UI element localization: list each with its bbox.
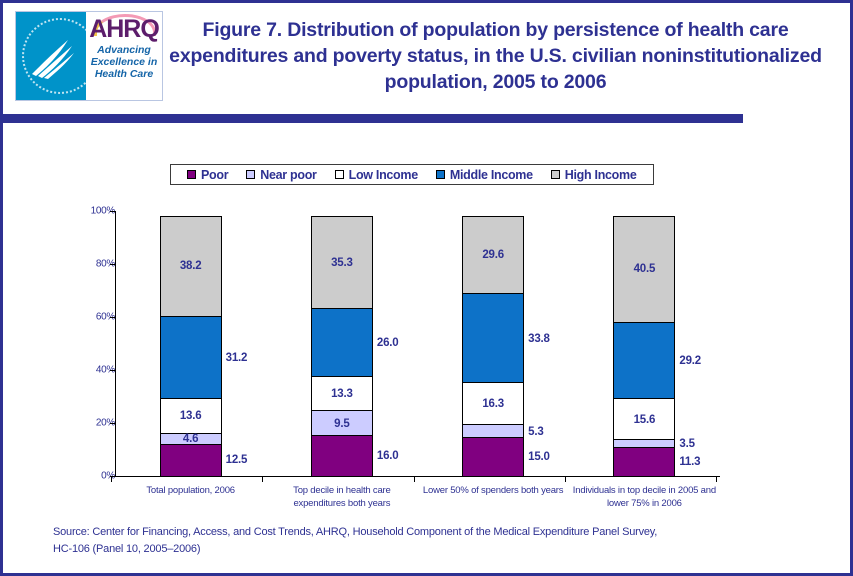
bar-segment-value: 16.3 bbox=[482, 398, 504, 410]
bar-group: 40.529.215.63.511.3 bbox=[569, 211, 720, 476]
bar-segment-low-income[interactable]: 16.3 bbox=[462, 382, 524, 425]
legend-label: Middle Income bbox=[450, 168, 533, 182]
bar-segment-middle-income[interactable]: 26.0 bbox=[311, 308, 373, 377]
legend-item-poor[interactable]: Poor bbox=[187, 168, 228, 182]
y-axis-tick-label: 20% bbox=[75, 418, 115, 429]
legend-swatch-icon bbox=[551, 170, 560, 179]
bar-segment-value: 13.6 bbox=[180, 410, 202, 422]
y-axis-tick-mark bbox=[110, 317, 115, 318]
y-axis-tick-label: 100% bbox=[75, 206, 115, 217]
y-axis-tick-mark bbox=[110, 423, 115, 424]
ahrq-tagline-line3: Health Care bbox=[86, 68, 162, 80]
bar-segment-middle-income[interactable]: 33.8 bbox=[462, 293, 524, 383]
x-axis-category-label: Lower 50% of spenders both years bbox=[418, 484, 569, 510]
bar-segment-poor[interactable]: 12.5 bbox=[160, 444, 222, 477]
ahrq-tagline-line1: Advancing bbox=[86, 44, 162, 56]
bar-segment-value: 29.2 bbox=[679, 355, 701, 367]
source-note: Source: Center for Financing, Access, an… bbox=[53, 524, 813, 558]
ahrq-wordmark: AHRQ Advancing Excellence in Health Care bbox=[86, 12, 162, 100]
y-axis-tick-label: 0% bbox=[75, 471, 115, 482]
y-axis: 0%20%40%60%80%100% bbox=[73, 211, 115, 476]
bar-segment-value: 31.2 bbox=[226, 352, 248, 364]
bar-stack[interactable]: 35.326.013.39.516.0 bbox=[311, 211, 373, 476]
bar-segment-high-income[interactable]: 29.6 bbox=[462, 216, 524, 294]
bar-segment-value: 13.3 bbox=[331, 388, 353, 400]
bar-segment-value: 40.5 bbox=[634, 263, 656, 275]
legend-label: Near poor bbox=[260, 168, 316, 182]
bar-segment-low-income[interactable]: 15.6 bbox=[613, 398, 675, 439]
y-axis-tick-mark bbox=[110, 370, 115, 371]
figure-header: AHRQ Advancing Excellence in Health Care… bbox=[3, 3, 850, 115]
y-axis-tick-mark bbox=[110, 211, 115, 212]
legend-label: Low Income bbox=[349, 168, 418, 182]
y-axis-tick-mark bbox=[110, 264, 115, 265]
source-line-2: HC-106 (Panel 10, 2005–2006) bbox=[53, 541, 813, 558]
bar-segment-high-income[interactable]: 38.2 bbox=[160, 216, 222, 317]
bar-segment-near-poor[interactable]: 5.3 bbox=[462, 424, 524, 438]
bar-segment-poor[interactable]: 11.3 bbox=[613, 447, 675, 477]
chart-plot-area: 0%20%40%60%80%100% 38.231.213.64.612.535… bbox=[73, 211, 733, 476]
bar-segment-value: 12.5 bbox=[226, 454, 248, 466]
bar-stack[interactable]: 38.231.213.64.612.5 bbox=[160, 211, 222, 476]
hhs-eagle-icon bbox=[28, 34, 76, 80]
bar-segment-high-income[interactable]: 40.5 bbox=[613, 216, 675, 323]
x-axis-tick-mark bbox=[262, 476, 263, 482]
bar-segment-middle-income[interactable]: 31.2 bbox=[160, 316, 222, 399]
legend-item-near-poor[interactable]: Near poor bbox=[246, 168, 316, 182]
bar-segment-value: 38.2 bbox=[180, 260, 202, 272]
x-axis-category-label: Individuals in top decile in 2005 and lo… bbox=[569, 484, 720, 510]
x-axis-category-labels: Total population, 2006Top decile in heal… bbox=[115, 484, 720, 510]
stacked-bars: 38.231.213.64.612.535.326.013.39.516.029… bbox=[115, 211, 720, 476]
bar-segment-value: 9.5 bbox=[334, 418, 349, 430]
y-axis-tick-label: 80% bbox=[75, 259, 115, 270]
x-axis-tick-mark bbox=[414, 476, 415, 482]
ahrq-tagline: Advancing Excellence in Health Care bbox=[86, 44, 162, 80]
bar-segment-high-income[interactable]: 35.3 bbox=[311, 216, 373, 310]
legend-swatch-icon bbox=[436, 170, 445, 179]
legend-swatch-icon bbox=[187, 170, 196, 179]
ahrq-hhs-logo: AHRQ Advancing Excellence in Health Care bbox=[15, 11, 163, 101]
bar-segment-value: 11.3 bbox=[679, 456, 700, 468]
bar-segment-low-income[interactable]: 13.3 bbox=[311, 376, 373, 411]
legend-label: High Income bbox=[565, 168, 637, 182]
source-line-1: Source: Center for Financing, Access, an… bbox=[53, 524, 813, 541]
legend-swatch-icon bbox=[335, 170, 344, 179]
bar-stack[interactable]: 40.529.215.63.511.3 bbox=[613, 211, 675, 476]
ahrq-acronym: AHRQ bbox=[86, 17, 162, 42]
bar-segment-value: 33.8 bbox=[528, 333, 550, 345]
x-axis-tick-mark bbox=[111, 476, 112, 482]
x-axis-category-label: Top decile in health care expenditures b… bbox=[266, 484, 417, 510]
legend-swatch-icon bbox=[246, 170, 255, 179]
bar-segment-middle-income[interactable]: 29.2 bbox=[613, 322, 675, 399]
bar-segment-poor[interactable]: 16.0 bbox=[311, 435, 373, 477]
x-axis-tick-mark bbox=[716, 476, 717, 482]
hhs-seal-icon bbox=[16, 12, 86, 100]
header-divider bbox=[3, 114, 743, 123]
bar-segment-value: 29.6 bbox=[482, 249, 504, 261]
x-axis-category-label: Total population, 2006 bbox=[115, 484, 266, 510]
bar-group: 35.326.013.39.516.0 bbox=[266, 211, 417, 476]
bar-stack[interactable]: 29.633.816.35.315.0 bbox=[462, 211, 524, 476]
bar-segment-near-poor[interactable]: 9.5 bbox=[311, 410, 373, 435]
legend-item-low-income[interactable]: Low Income bbox=[335, 168, 418, 182]
y-axis-tick-label: 60% bbox=[75, 312, 115, 323]
bar-segment-low-income[interactable]: 13.6 bbox=[160, 398, 222, 434]
bar-segment-value: 26.0 bbox=[377, 337, 399, 349]
bar-segment-poor[interactable]: 15.0 bbox=[462, 437, 524, 477]
chart-legend: PoorNear poorLow IncomeMiddle IncomeHigh… bbox=[170, 164, 654, 185]
figure-page: AHRQ Advancing Excellence in Health Care… bbox=[0, 0, 853, 576]
bar-segment-value: 3.5 bbox=[679, 438, 694, 450]
bar-group: 29.633.816.35.315.0 bbox=[418, 211, 569, 476]
bar-segment-value: 16.0 bbox=[377, 450, 399, 462]
bar-segment-value: 15.0 bbox=[528, 451, 550, 463]
legend-item-middle-income[interactable]: Middle Income bbox=[436, 168, 533, 182]
x-axis-tick-mark bbox=[565, 476, 566, 482]
bar-segment-value: 15.6 bbox=[634, 414, 656, 426]
legend-item-high-income[interactable]: High Income bbox=[551, 168, 637, 182]
legend-label: Poor bbox=[201, 168, 228, 182]
ahrq-tagline-line2: Excellence in bbox=[86, 56, 162, 68]
bar-segment-value: 5.3 bbox=[528, 426, 543, 438]
bar-segment-value: 4.6 bbox=[183, 433, 198, 445]
figure-title: Figure 7. Distribution of population by … bbox=[163, 3, 850, 95]
bar-segment-value: 35.3 bbox=[331, 257, 353, 269]
y-axis-tick-label: 40% bbox=[75, 365, 115, 376]
bar-group: 38.231.213.64.612.5 bbox=[115, 211, 266, 476]
